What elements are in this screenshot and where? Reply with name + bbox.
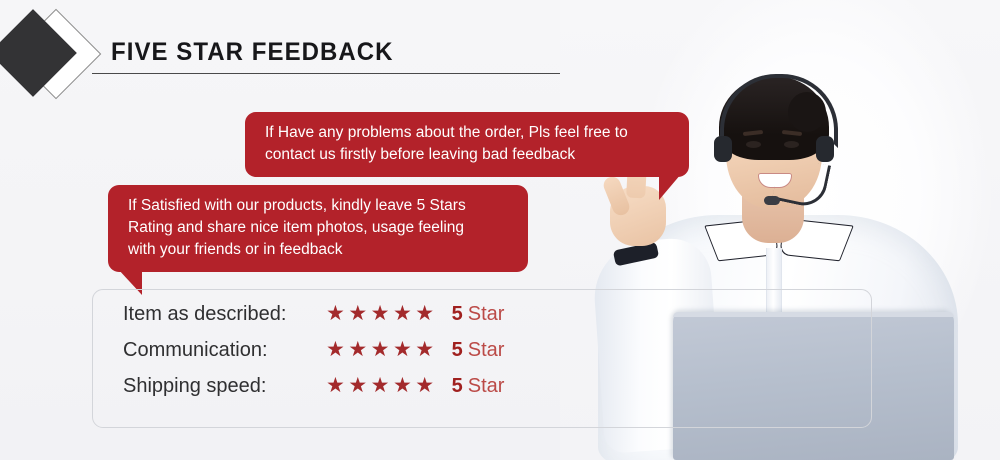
- rating-label: Communication:: [123, 339, 326, 362]
- rating-count: 5: [452, 303, 463, 326]
- headset-microphone: [764, 196, 780, 205]
- problems-bubble-tail: [659, 174, 681, 200]
- star-rating-icon: ★★★★★: [326, 373, 438, 398]
- rating-row-shipping-speed: Shipping speed: ★★★★★ 5 Star: [123, 373, 593, 409]
- rating-row-communication: Communication: ★★★★★ 5 Star: [123, 337, 593, 373]
- rating-label: Item as described:: [123, 303, 326, 326]
- problems-bubble-line-2: contact us firstly before leaving bad fe…: [265, 144, 671, 166]
- rating-rows: Item as described: ★★★★★ 5 Star Communic…: [123, 301, 593, 409]
- rating-unit: Star: [468, 339, 505, 362]
- problems-bubble-line-1: If Have any problems about the order, Pl…: [265, 122, 671, 144]
- rating-label: Shipping speed:: [123, 375, 326, 398]
- headset-earcup-right: [816, 136, 834, 162]
- rating-count: 5: [452, 375, 463, 398]
- five-star-feedback-banner: FIVE STAR FEEDBACK If Have any problems …: [0, 0, 1000, 460]
- rating-row-item-as-described: Item as described: ★★★★★ 5 Star: [123, 301, 593, 337]
- headset-earcup-left: [714, 136, 732, 162]
- rating-unit: Star: [468, 303, 505, 326]
- satisfied-speech-bubble: If Satisfied with our products, kindly l…: [108, 185, 528, 272]
- rating-count: 5: [452, 339, 463, 362]
- satisfied-bubble-line-1: If Satisfied with our products, kindly l…: [128, 195, 510, 217]
- star-rating-icon: ★★★★★: [326, 337, 438, 362]
- satisfied-bubble-line-2: Rating and share nice item photos, usage…: [128, 217, 510, 239]
- star-rating-icon: ★★★★★: [326, 301, 438, 326]
- satisfied-bubble-line-3: with your friends or in feedback: [128, 239, 510, 261]
- problems-speech-bubble: If Have any problems about the order, Pl…: [245, 112, 689, 177]
- page-title: FIVE STAR FEEDBACK: [111, 38, 394, 67]
- rating-unit: Star: [468, 375, 505, 398]
